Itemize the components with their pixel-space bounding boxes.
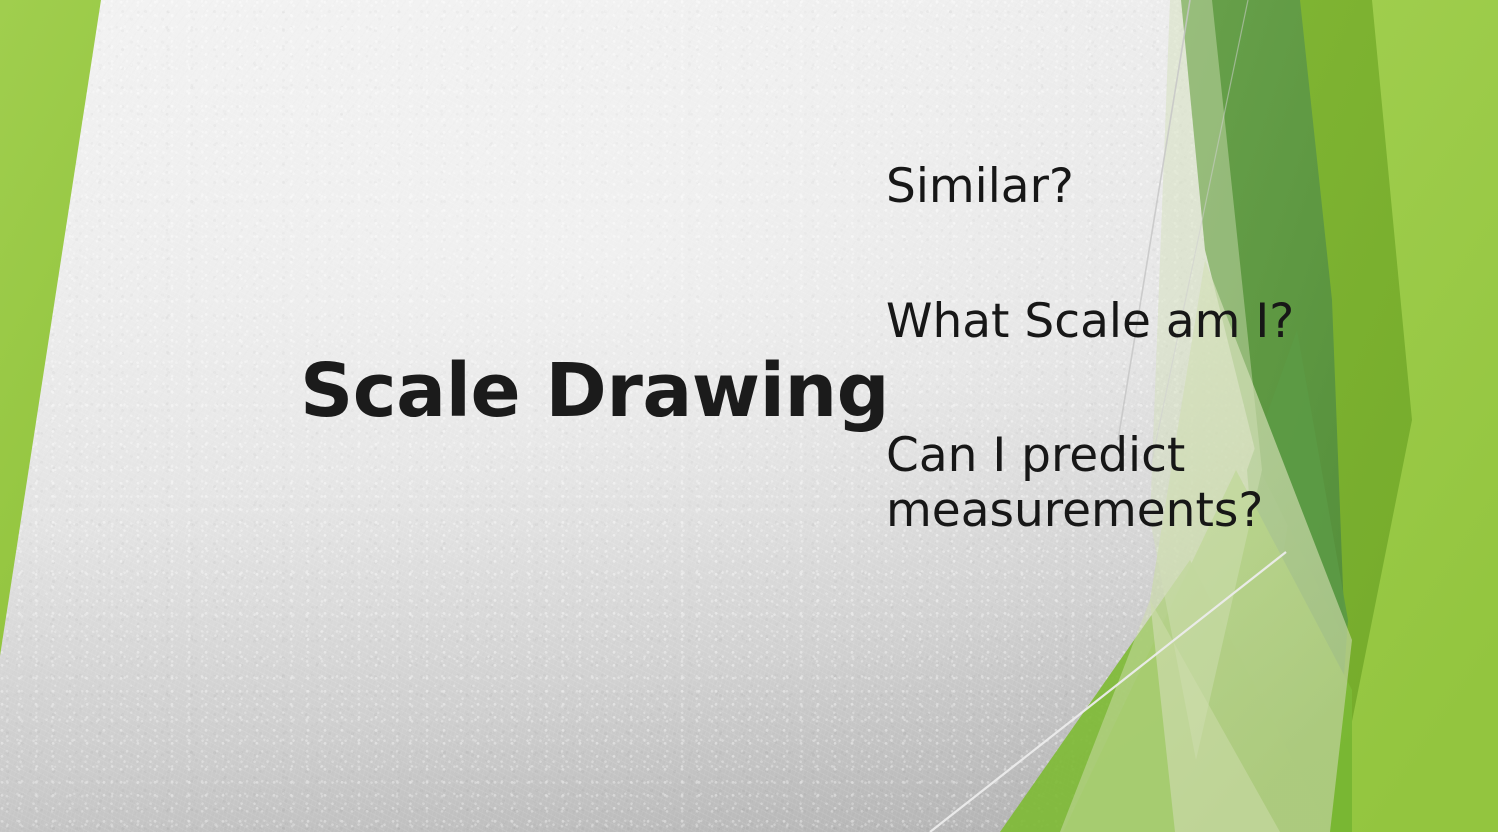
page-title: Scale Drawing xyxy=(300,352,860,432)
left-green-wedge xyxy=(0,0,101,656)
body-line-1: Similar? xyxy=(886,160,1356,215)
body-line-2: What Scale am I? xyxy=(886,295,1356,350)
body-text-block: Similar? What Scale am I? Can I predict … xyxy=(886,160,1356,538)
presentation-slide: Scale Drawing Similar? What Scale am I? … xyxy=(0,0,1498,832)
title-block: Scale Drawing xyxy=(300,352,860,432)
body-line-3: Can I predict measurements? xyxy=(886,429,1356,538)
